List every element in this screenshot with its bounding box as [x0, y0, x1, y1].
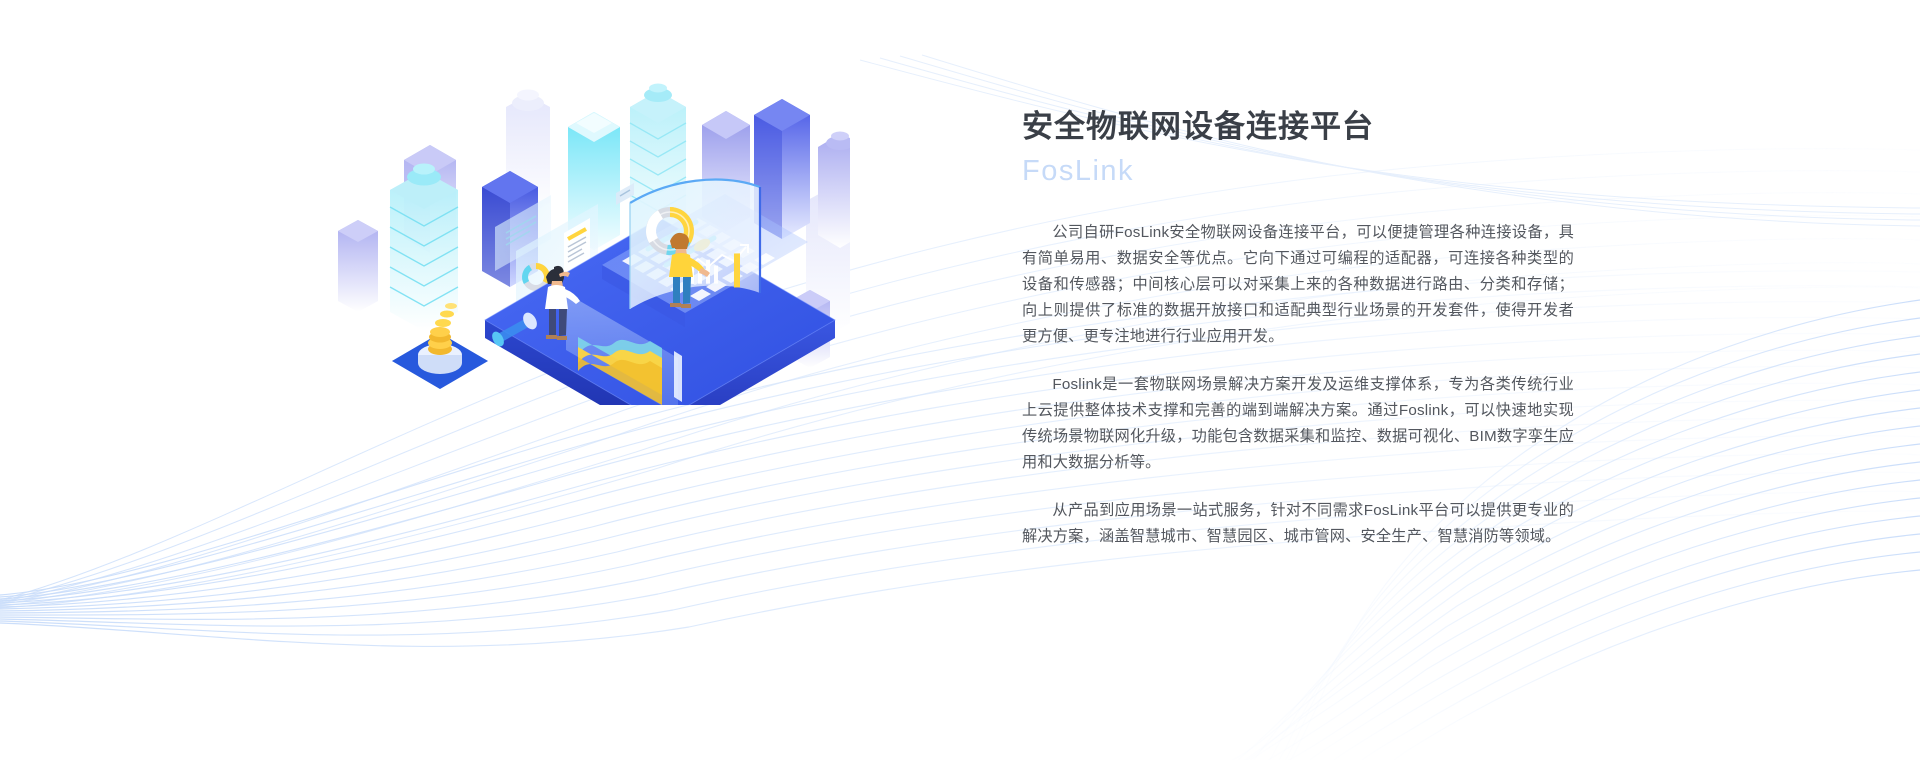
paragraph-3: 从产品到应用场景一站式服务，针对不同需求FosLink平台可以提供更专业的解决方… [1022, 498, 1574, 550]
wave-fan-upper [0, 149, 1920, 608]
page-title: 安全物联网设备连接平台 [1022, 108, 1574, 147]
building-purple-3 [818, 132, 850, 249]
paragraph-2: Foslink是一套物联网场景解决方案开发及运维支撑体系，专为各类传统行业上云提… [1022, 372, 1574, 476]
wave-fan-left [0, 271, 1920, 647]
background-wave-decoration [0, 0, 1920, 760]
page-subtitle: FosLink [1022, 153, 1574, 191]
paragraph-1: 公司自研FosLink安全物联网设备连接平台，可以便捷管理各种连接设备，具有简单… [1022, 220, 1574, 350]
page-root: 安全物联网设备连接平台 FosLink 公司自研FosLink安全物联网设备连接… [0, 0, 1920, 760]
content-column: 安全物联网设备连接平台 FosLink 公司自研FosLink安全物联网设备连接… [1022, 108, 1574, 550]
description-paragraphs: 公司自研FosLink安全物联网设备连接平台，可以便捷管理各种连接设备，具有简单… [1022, 220, 1574, 550]
building-purple-small [338, 220, 378, 312]
isometric-smart-city-illustration [330, 55, 850, 405]
